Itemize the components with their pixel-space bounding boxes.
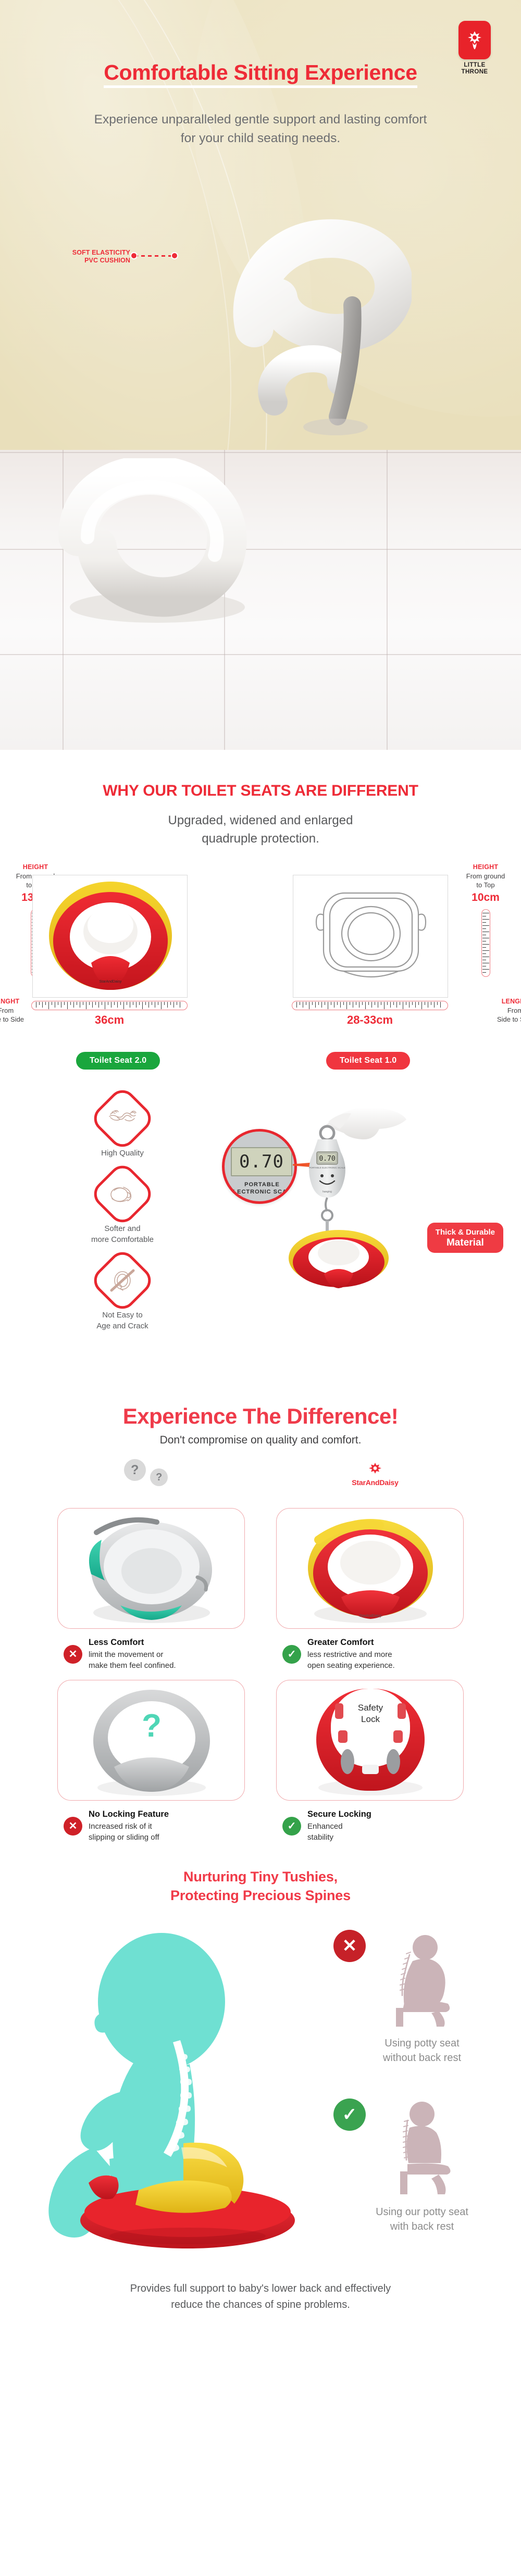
cell-image <box>57 1508 245 1629</box>
hero-section: LITTLE THRONE Comfortable Sitting Experi… <box>0 0 521 750</box>
length-label: From Side to Side <box>0 1006 34 1024</box>
durable-line1: Thick & Durable <box>436 1227 495 1238</box>
length-value-old: 28-33cm <box>292 1013 448 1027</box>
soft-cushion-icon <box>89 1160 156 1228</box>
question-mark-overlay: ? <box>142 1708 162 1744</box>
scale-lcd-value: 0.70 <box>319 1155 335 1163</box>
horizontal-ruler-old <box>292 1001 448 1010</box>
why-sub-line1: Upgraded, widened and enlarged <box>168 813 353 827</box>
posture-item-good: ✓ <box>333 2099 511 2234</box>
svg-text:hanging: hanging <box>322 1190 332 1193</box>
flower-crown-icon <box>367 1461 383 1477</box>
comparison-cell-secure-locking: Safety Lock ✓ Secure Locking Enhanced st… <box>276 1680 464 1843</box>
outline-seat-top-view <box>293 875 449 998</box>
posture-comparison-list: ✕ <box>333 1930 511 2267</box>
check-icon: ✓ <box>333 2099 366 2131</box>
spine-footer-line1: Provides full support to baby's lower ba… <box>130 2283 391 2294</box>
hero-title: Comfortable Sitting Experience <box>0 60 521 88</box>
comparison-cell-greater-comfort: StarAndDaisy ✓ Greater Comfort less rest… <box>276 1508 464 1671</box>
spine-illustration-row: ✕ <box>0 1914 521 2279</box>
height-value: 10cm <box>457 891 514 904</box>
quality-item: Softer and more Comfortable <box>63 1170 182 1245</box>
comparison-column-old: HEIGHT From ground to Top 10cm <box>260 861 521 1049</box>
durable-line2: Material <box>436 1238 495 1248</box>
upright-posture-icon <box>377 2099 466 2197</box>
red-yellow-seat-top-view: StarAndDaisy <box>33 875 188 998</box>
product-photo-new: StarAndDaisy <box>32 875 188 998</box>
spine-heading: Nurturing Tiny Tushies, Protecting Preci… <box>0 1867 521 1905</box>
cell-image: Safety Lock <box>276 1680 464 1801</box>
hero-subtitle-line2: for your child seating needs. <box>181 131 340 145</box>
height-label: From ground to Top <box>457 872 514 889</box>
length-measure-old: LENGHT From Side to Side <box>487 998 521 1024</box>
quality-item-label: Not Easy to Age and Crack <box>63 1310 182 1331</box>
badge-toilet-seat-2: Toilet Seat 2.0 <box>76 1052 160 1070</box>
spine-heading-line2: Protecting Precious Spines <box>170 1888 351 1903</box>
height-caption: HEIGHT <box>457 863 514 871</box>
cell-title: No Locking Feature <box>89 1809 169 1820</box>
difference-heading: Experience The Difference! <box>0 1404 521 1429</box>
grey-teal-potty-seat <box>58 1509 245 1629</box>
quality-item-label: High Quality <box>63 1148 182 1159</box>
spine-heading-line1: Nurturing Tiny Tushies, <box>183 1869 338 1884</box>
flower-crown-icon <box>465 29 484 52</box>
length-caption: LENGHT <box>0 998 34 1005</box>
brand-name: LITTLE THRONE <box>458 62 491 75</box>
cell-image: StarAndDaisy <box>276 1508 464 1629</box>
why-heading: WHY OUR TOILET SEATS ARE DIFFERENT <box>0 782 521 800</box>
difference-comparison-grid: ✕ Less Comfort limit the movement or mak… <box>0 1508 521 1841</box>
no-crack-icon <box>89 1247 156 1314</box>
cell-title: Secure Locking <box>307 1809 371 1820</box>
cell-desc: limit the movement or make them feel con… <box>89 1649 176 1671</box>
height-caption: HEIGHT <box>7 863 64 871</box>
cross-icon: ✕ <box>64 1645 82 1664</box>
safety-lock-overlay-line2: Lock <box>361 1714 380 1724</box>
weight-test-illustration: 0.70 PORTABLE ELECTRONIC SCALE <box>224 1084 516 1376</box>
cross-icon: ✕ <box>64 1817 82 1836</box>
product-infographic-page: LITTLE THRONE Comfortable Sitting Experi… <box>0 0 521 2329</box>
question-mark-icon: ? <box>124 1459 146 1481</box>
quality-item-label: Softer and more Comfortable <box>63 1223 182 1245</box>
why-different-section: WHY OUR TOILET SEATS ARE DIFFERENT Upgra… <box>0 750 521 1084</box>
badge-toilet-seat-1: Toilet Seat 1.0 <box>326 1052 410 1070</box>
check-icon: ✓ <box>282 1645 301 1664</box>
stretch-hands-icon <box>89 1085 156 1152</box>
posture-caption: Using our potty seat with back rest <box>333 2205 511 2234</box>
quality-item: Not Easy to Age and Crack <box>63 1256 182 1331</box>
spine-footer-text: Provides full support to baby's lower ba… <box>0 2281 521 2313</box>
callout-text: SOFT ELASTICITY PVC CUSHION <box>63 249 130 265</box>
callout-dot-start <box>130 252 138 259</box>
cross-icon: ✕ <box>333 1930 366 1962</box>
brand-name-line2: THRONE <box>462 69 488 75</box>
experience-difference-section: Experience The Difference! Don't comprom… <box>0 1386 521 1846</box>
cell-desc: Enhanced stability <box>307 1821 371 1843</box>
slouching-posture-icon <box>377 1930 466 2029</box>
hand-holding-luggage-scale: 0.70 PORTABLE ELECTRONIC SCALE hanging <box>287 1089 505 1334</box>
callout-line2: PVC CUSHION <box>84 257 130 264</box>
cell-caption: ✓ Greater Comfort less restrictive and m… <box>276 1637 464 1671</box>
svg-text:StarAndDaisy: StarAndDaisy <box>359 1614 382 1618</box>
cell-desc: Increased risk of it slipping or sliding… <box>89 1821 169 1843</box>
length-measure-new: LENGHT From Side to Side <box>0 998 34 1024</box>
brand-name-line1: LITTLE <box>464 62 485 68</box>
brand-watermark-label: StarAndDaisy <box>352 1478 398 1487</box>
hero-subtitle-line1: Experience unparalleled gentle support a… <box>94 112 427 127</box>
grey-seat-underside: ? <box>58 1680 245 1801</box>
quality-and-weight-section: High Quality Sof <box>0 1084 521 1386</box>
quality-item: High Quality <box>63 1095 182 1159</box>
brand-logo: LITTLE THRONE <box>458 21 491 75</box>
check-icon: ✓ <box>282 1817 301 1836</box>
length-label: From Side to Side <box>487 1006 521 1024</box>
hero-title-text: Comfortable Sitting Experience <box>104 60 417 88</box>
cell-desc: less restrictive and more open seating e… <box>307 1649 395 1671</box>
red-yellow-potty-seat: StarAndDaisy <box>277 1509 464 1629</box>
hero-subtitle: Experience unparalleled gentle support a… <box>0 110 521 148</box>
cell-title: Greater Comfort <box>307 1637 395 1648</box>
soft-elasticity-callout: SOFT ELASTICITY PVC CUSHION <box>63 249 130 265</box>
scale-magnifier: 0.70 PORTABLE ELECTRONIC SCALE <box>222 1129 297 1204</box>
callout-line1: SOFT ELASTICITY <box>72 249 130 256</box>
scale-reading: 0.70 <box>231 1147 292 1176</box>
svg-text:PORTABLE ELECTRONIC SCALE: PORTABLE ELECTRONIC SCALE <box>309 1166 345 1169</box>
hero-product-sculpture <box>224 156 412 448</box>
hero-white-toilet-seat <box>47 458 266 635</box>
comparison-cell-less-comfort: ✕ Less Comfort limit the movement or mak… <box>57 1508 245 1671</box>
quality-feature-list: High Quality Sof <box>63 1095 182 1343</box>
posture-item-bad: ✕ <box>333 1930 511 2065</box>
length-value-new: 36cm <box>31 1013 188 1027</box>
length-caption: LENGHT <box>487 998 521 1005</box>
brand-watermark: StarAndDaisy <box>323 1461 427 1488</box>
red-seat-underside: Safety Lock <box>277 1680 464 1801</box>
safety-lock-overlay-line1: Safety <box>358 1703 383 1713</box>
comparison-column-new: HEIGHT From ground to Top 13cm <box>0 861 260 1049</box>
vertical-ruler-old <box>481 909 490 977</box>
difference-subheading: Don't compromise on quality and comfort. <box>0 1434 521 1447</box>
svg-text:StarAndDaisy: StarAndDaisy <box>100 980 122 984</box>
logo-tile <box>458 21 491 59</box>
horizontal-ruler-new <box>31 1001 188 1010</box>
why-subheading: Upgraded, widened and enlarged quadruple… <box>0 811 521 848</box>
cell-caption: ✕ Less Comfort limit the movement or mak… <box>57 1637 245 1671</box>
why-sub-line2: quadruple protection. <box>202 832 319 846</box>
seat-version-badges: Toilet Seat 2.0 Toilet Seat 1.0 <box>0 1052 521 1081</box>
thick-durable-badge: Thick & Durable Material <box>427 1223 503 1253</box>
size-comparison: HEIGHT From ground to Top 13cm <box>0 861 521 1049</box>
spine-footer-line2: reduce the chances of spine problems. <box>171 2299 350 2310</box>
callout-dashed-line <box>134 255 174 257</box>
spine-protection-section: Nurturing Tiny Tushies, Protecting Preci… <box>0 1846 521 2329</box>
cell-caption: ✓ Secure Locking Enhanced stability <box>276 1809 464 1843</box>
callout-dot-end <box>171 252 178 259</box>
posture-caption: Using potty seat without back rest <box>333 2036 511 2065</box>
baby-sitting-on-seat-illustration <box>31 1914 323 2268</box>
question-mark-icon-small: ? <box>150 1468 168 1486</box>
comparison-header-row: ? ? StarAndDaisy <box>0 1460 521 1508</box>
height-measure-old: HEIGHT From ground to Top 10cm <box>457 863 514 904</box>
product-photo-old <box>293 875 448 998</box>
cell-image: ? <box>57 1680 245 1801</box>
cell-caption: ✕ No Locking Feature Increased risk of i… <box>57 1809 245 1843</box>
comparison-cell-no-locking: ? ✕ No Locking Feature Increased risk of… <box>57 1680 245 1843</box>
question-marks-group: ? ? <box>104 1463 188 1485</box>
cell-title: Less Comfort <box>89 1637 176 1648</box>
